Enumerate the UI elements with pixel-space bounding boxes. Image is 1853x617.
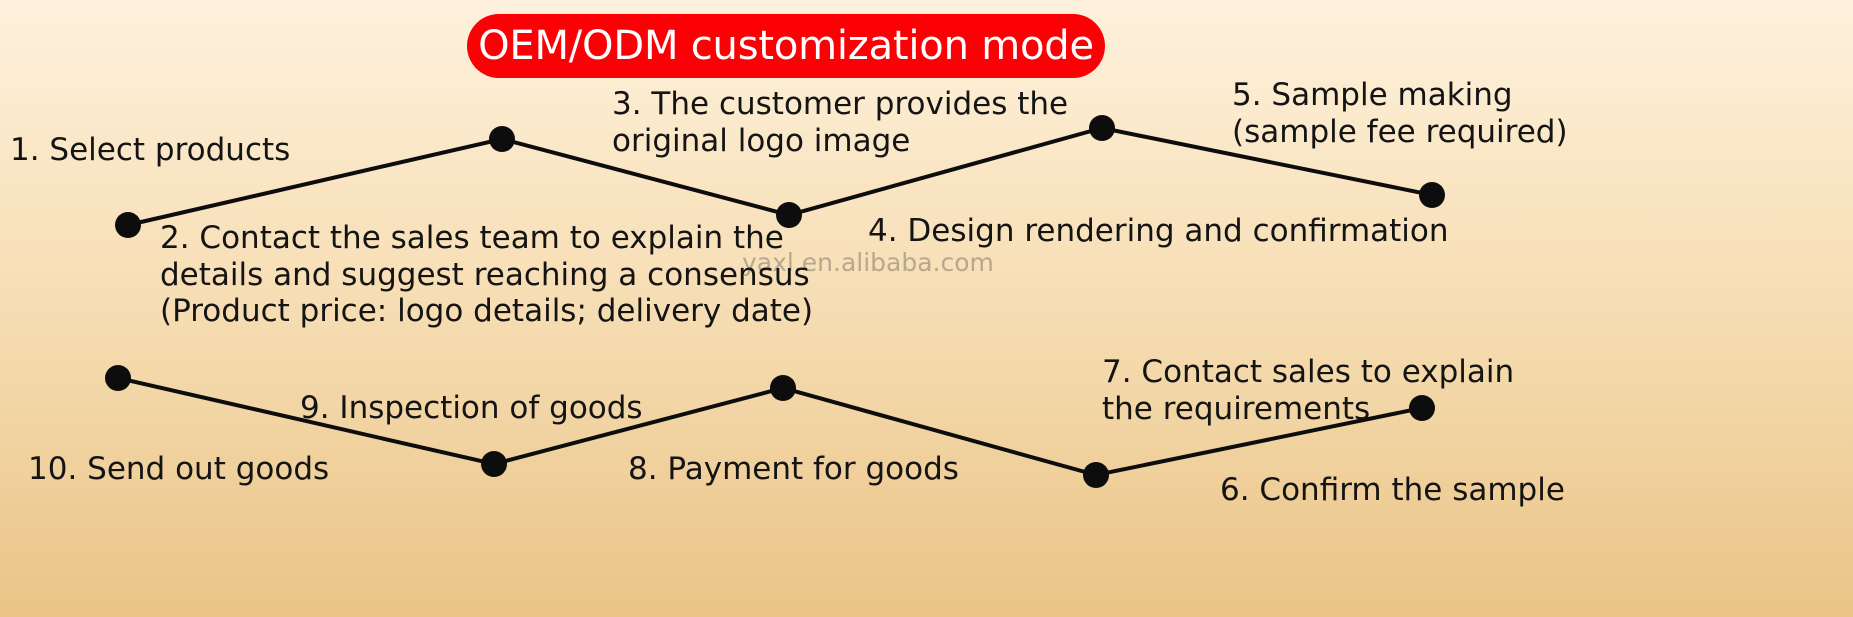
step-label-4: 4. Design rendering and confirmation	[868, 213, 1449, 250]
diagram-canvas: OEM/ODM customization mode yaxl.en.aliba…	[0, 0, 1853, 617]
step-label-10: 10. Send out goods	[28, 451, 329, 488]
step-label-7: 7. Contact sales to explain the requirem…	[1102, 354, 1514, 427]
node-step-1	[115, 212, 141, 238]
step-label-9: 9. Inspection of goods	[300, 390, 643, 427]
node-step-3	[489, 126, 515, 152]
step-label-8: 8. Payment for goods	[628, 451, 959, 488]
node-step-8	[770, 375, 796, 401]
node-step-6	[1419, 182, 1445, 208]
node-step-9	[481, 451, 507, 477]
step-label-6: 6. Confirm the sample	[1220, 472, 1565, 509]
node-step-5	[1089, 115, 1115, 141]
step-label-3: 3. The customer provides the original lo…	[612, 86, 1068, 159]
step-label-5: 5. Sample making (sample fee required)	[1232, 77, 1568, 150]
step-label-2: 2. Contact the sales team to explain the…	[160, 220, 813, 330]
step-label-1: 1. Select products	[10, 132, 290, 169]
node-step-10	[105, 365, 131, 391]
node-step-7	[1083, 462, 1109, 488]
